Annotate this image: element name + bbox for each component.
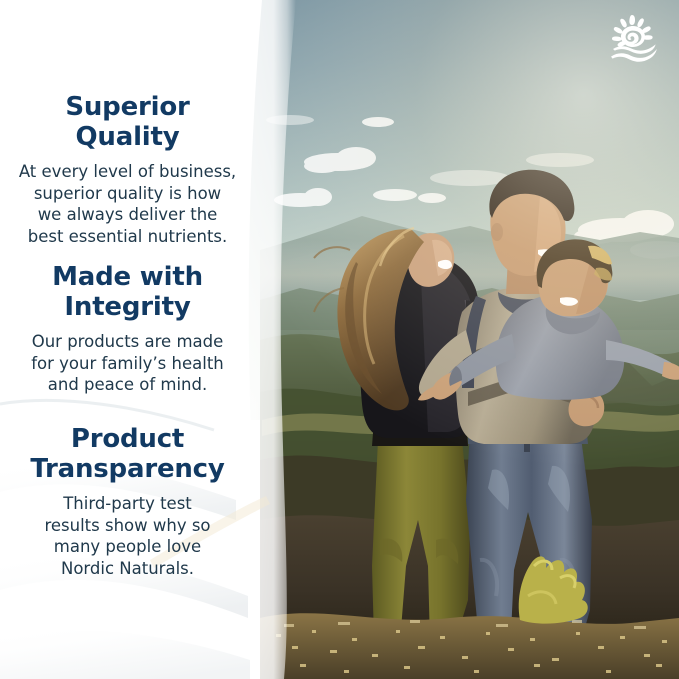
nordic-naturals-logo <box>605 12 663 64</box>
body-line: superior quality is how <box>12 183 243 205</box>
heading-line: Quality <box>14 122 241 152</box>
benefit-block-transparency: Product Transparency Third-party test re… <box>0 424 255 579</box>
benefits-text-column: Superior Quality At every level of busin… <box>0 0 255 679</box>
benefit-heading-transparency: Product Transparency <box>0 424 255 484</box>
heading-line: Made with <box>14 262 241 292</box>
body-line: many people love <box>12 536 243 558</box>
heading-line: Integrity <box>14 292 241 322</box>
heading-line: Superior <box>14 92 241 122</box>
body-line: At every level of business, <box>12 161 243 183</box>
body-line: best essential nutrients. <box>12 226 243 248</box>
heading-line: Product <box>14 424 241 454</box>
body-line: for your family’s health <box>12 353 243 375</box>
benefit-body-transparency: Third-party test results show why so man… <box>0 493 255 579</box>
body-line: Our products are made <box>12 331 243 353</box>
sun-over-waves-logo-icon <box>611 15 657 62</box>
benefit-body-integrity: Our products are made for your family’s … <box>0 331 255 396</box>
benefit-heading-quality: Superior Quality <box>0 92 255 152</box>
body-line: we always deliver the <box>12 204 243 226</box>
body-line: and peace of mind. <box>12 374 243 396</box>
benefit-block-quality: Superior Quality At every level of busin… <box>0 92 255 247</box>
benefit-block-integrity: Made with Integrity Our products are mad… <box>0 262 255 396</box>
promotional-banner: Superior Quality At every level of busin… <box>0 0 679 679</box>
benefit-heading-integrity: Made with Integrity <box>0 262 255 322</box>
body-line: Nordic Naturals. <box>12 558 243 580</box>
body-line: Third-party test <box>12 493 243 515</box>
benefit-body-quality: At every level of business, superior qua… <box>0 161 255 247</box>
body-line: results show why so <box>12 515 243 537</box>
heading-line: Transparency <box>14 454 241 484</box>
